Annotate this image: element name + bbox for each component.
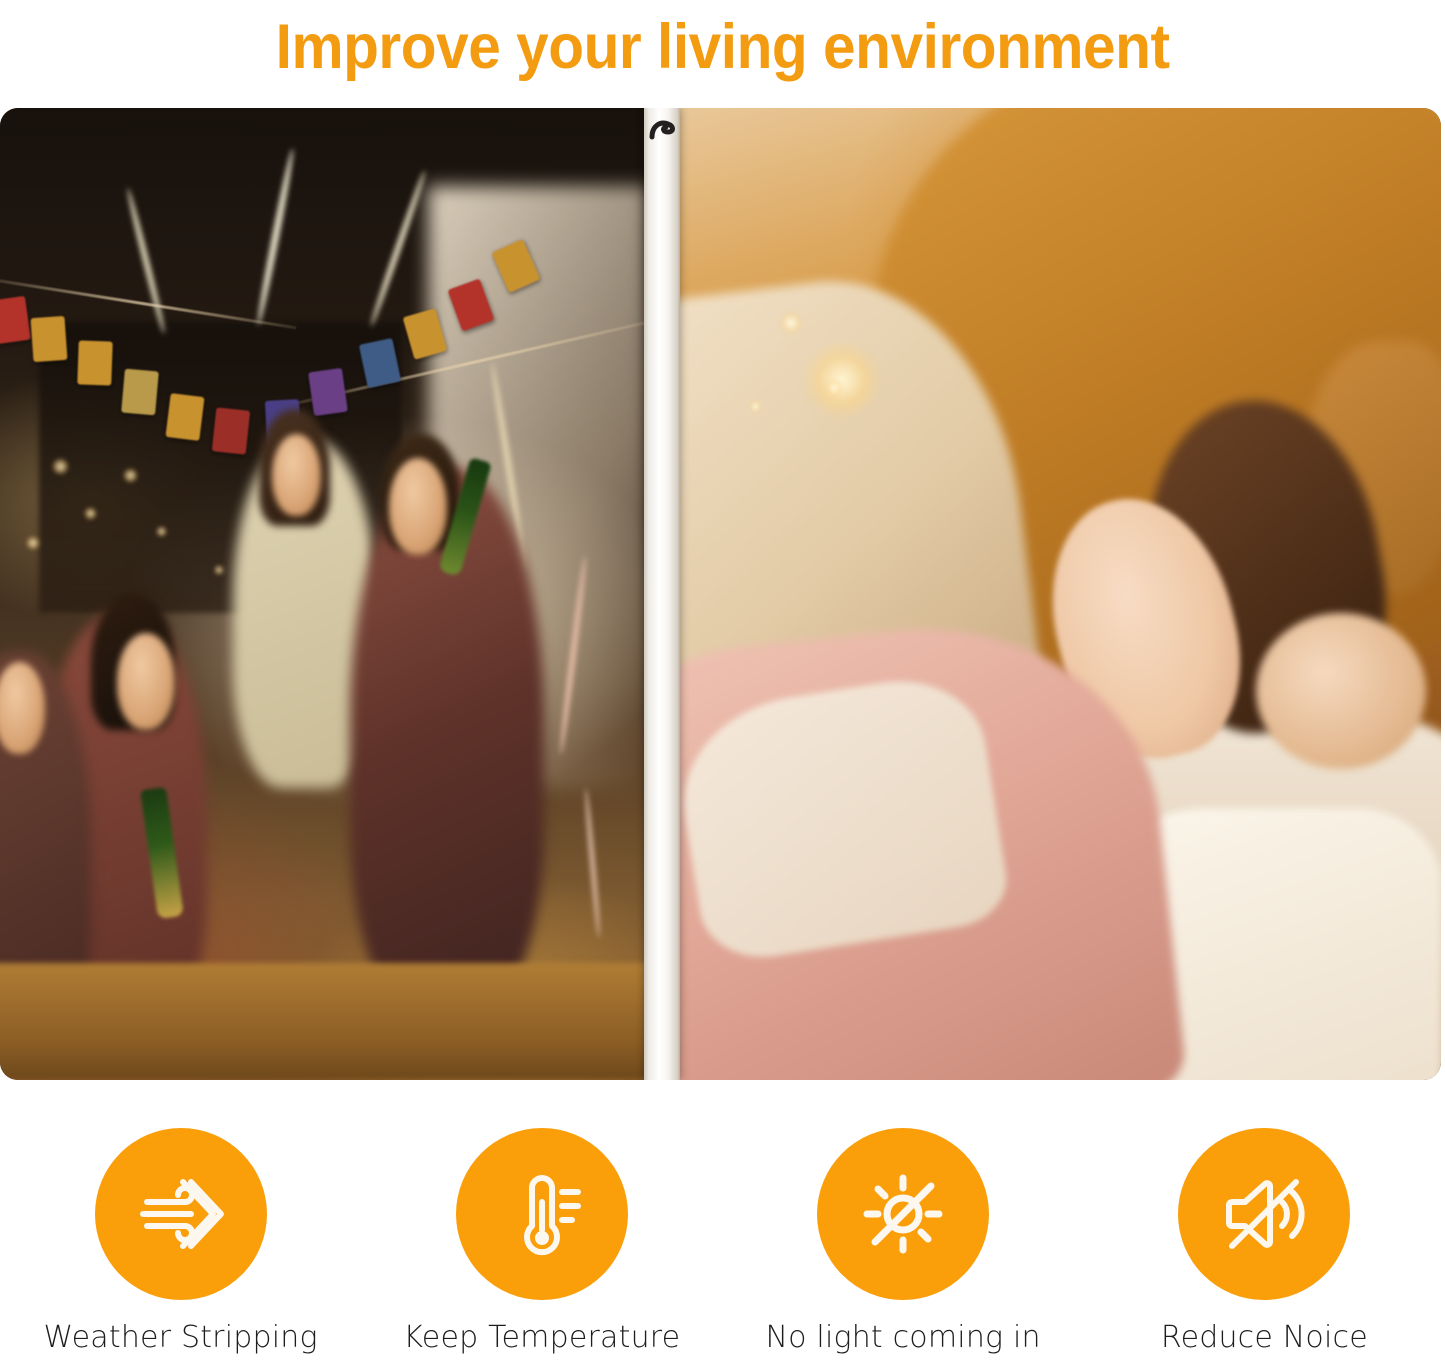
feature-item-no-light[interactable]: No light coming in bbox=[723, 1128, 1084, 1371]
confetti-streamer bbox=[124, 187, 166, 334]
page-title: Improve your living environment bbox=[276, 16, 1170, 79]
feature-list: Weather Stripping Keep Temperature bbox=[0, 1128, 1445, 1371]
banner-letter bbox=[0, 295, 30, 343]
feature-label: Weather Stripping bbox=[44, 1321, 318, 1354]
bokeh-light bbox=[52, 458, 69, 475]
bokeh-light bbox=[156, 526, 167, 537]
person-face bbox=[272, 434, 321, 517]
feature-item-keep-temperature[interactable]: Keep Temperature bbox=[361, 1128, 722, 1371]
bokeh-light bbox=[26, 536, 40, 550]
thermometer-icon bbox=[456, 1128, 628, 1300]
banner-letter bbox=[166, 393, 205, 441]
sun-blocked-icon bbox=[817, 1128, 989, 1300]
string-light-glow bbox=[803, 341, 881, 419]
string-light bbox=[780, 312, 802, 334]
confetti-streamer bbox=[255, 148, 296, 326]
banner-letter bbox=[77, 341, 113, 386]
person-face bbox=[117, 633, 175, 730]
string-light bbox=[826, 380, 842, 396]
feature-label: Reduce Noice bbox=[1161, 1321, 1368, 1354]
banner-letter bbox=[31, 316, 68, 362]
sleeping-child-photo bbox=[672, 108, 1441, 1080]
child-arm bbox=[1256, 613, 1425, 769]
headline-banner: Improve your living environment bbox=[0, 0, 1445, 95]
product-feature-page: Improve your living environment bbox=[0, 0, 1445, 1371]
feature-label: No light coming in bbox=[766, 1321, 1041, 1354]
person-face bbox=[389, 458, 447, 555]
party-celebration-photo bbox=[0, 108, 648, 1080]
feature-label: Keep Temperature bbox=[403, 1321, 680, 1354]
confetti-streamer bbox=[369, 170, 428, 328]
wind-arrow-icon bbox=[95, 1128, 267, 1300]
door-weather-strip bbox=[644, 108, 680, 1080]
bokeh-light bbox=[123, 468, 138, 483]
bokeh-light bbox=[214, 565, 224, 575]
speaker-muted-icon bbox=[1178, 1128, 1350, 1300]
banner-letter bbox=[121, 369, 159, 416]
feature-item-reduce-noise[interactable]: Reduce Noice bbox=[1084, 1128, 1445, 1371]
foreground-table bbox=[0, 963, 648, 1080]
feature-item-weather-stripping[interactable]: Weather Stripping bbox=[0, 1128, 361, 1371]
banner-letter bbox=[308, 368, 348, 416]
hero-photo-band bbox=[0, 108, 1441, 1080]
bokeh-light bbox=[84, 507, 97, 520]
confetti-streamer bbox=[583, 788, 601, 938]
string-light bbox=[749, 400, 762, 413]
banner-letter bbox=[212, 408, 250, 455]
weather-seal-icon bbox=[648, 118, 678, 144]
